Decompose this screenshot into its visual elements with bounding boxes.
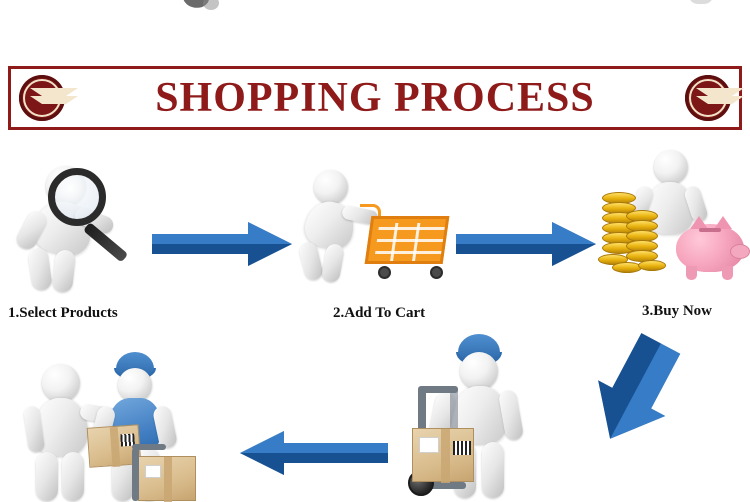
cart-basket-bar <box>375 251 441 254</box>
step-2-caption: 2.Add To Cart <box>333 305 425 322</box>
parcel-tape <box>164 457 172 502</box>
figure-leg-right <box>482 442 504 498</box>
parcel-tape <box>441 429 450 483</box>
step-1-caption: 1.Select Products <box>8 305 118 322</box>
parcel-barcode-icon <box>453 441 471 455</box>
figure-leg-front <box>52 249 76 293</box>
step-2-figure <box>298 160 458 290</box>
figure-head <box>42 364 80 402</box>
hand-truck-handle <box>418 386 458 393</box>
hand-truck-handle <box>132 444 166 450</box>
magnifier-lens-icon <box>48 168 106 226</box>
arrow-3-down-icon <box>580 330 690 455</box>
arrow-2-right-icon <box>456 222 596 266</box>
title-banner: SHOPPING PROCESS <box>8 66 742 130</box>
badge-chevron-lower-icon <box>696 96 744 104</box>
step-1-figure <box>12 152 152 292</box>
page-title: SHOPPING PROCESS <box>11 69 739 127</box>
figure-leg-back <box>27 247 53 291</box>
partial-graphic-right <box>690 0 712 4</box>
step-5-figure <box>28 352 238 501</box>
step-3-caption: 3.Buy Now <box>642 303 712 320</box>
piggy-coin-slot <box>699 228 721 232</box>
figure-head <box>654 150 688 184</box>
parcel-tape <box>110 427 121 467</box>
cart-basket-bar <box>378 227 444 230</box>
cart-wheel-icon <box>430 266 443 279</box>
cart-wheel-icon <box>378 266 391 279</box>
parcel-label <box>419 437 439 453</box>
badge-chevron-upper-icon <box>696 88 744 96</box>
arrow-1-right-icon <box>152 222 292 266</box>
piggy-leg <box>686 266 697 280</box>
hand-truck-rail <box>132 448 139 501</box>
figure-leg-left <box>36 452 58 501</box>
parcel-box-stack-upper <box>138 456 196 501</box>
coin <box>638 260 666 271</box>
cart-basket-icon <box>365 216 450 264</box>
cart-basket-bar <box>377 239 443 242</box>
parcel-box <box>412 428 474 482</box>
figure-head <box>118 368 152 402</box>
arrow-4-left-icon <box>238 430 388 476</box>
figure-leg-front <box>321 243 345 284</box>
parcel-label <box>145 465 161 478</box>
figure-head <box>314 170 348 204</box>
top-faded-strip <box>0 0 750 52</box>
step-4-figure <box>398 330 568 501</box>
step-3-figure <box>598 150 748 295</box>
partial-graphic-left-secondary <box>203 0 219 10</box>
emblem-badge-right <box>685 75 731 121</box>
figure-head <box>460 352 498 390</box>
figure-leg-right <box>62 452 84 501</box>
figure-leg-back <box>298 240 325 281</box>
piggy-snout <box>730 244 750 259</box>
piggy-leg <box>722 266 733 280</box>
